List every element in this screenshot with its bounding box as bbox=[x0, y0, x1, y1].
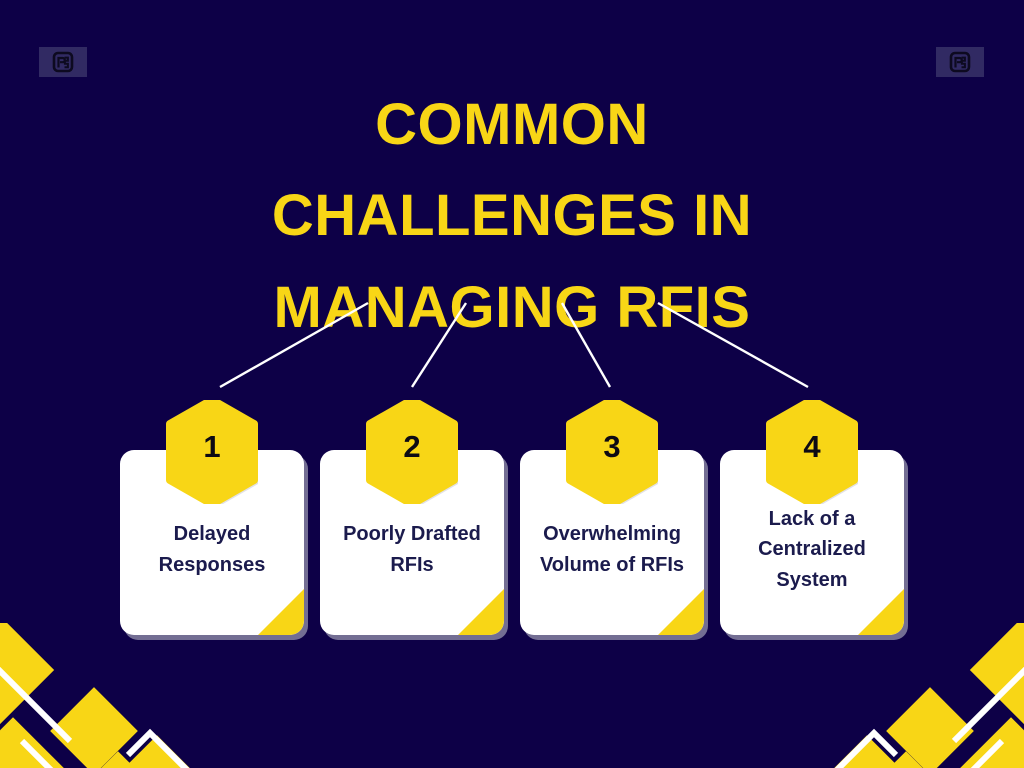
card-number: 4 bbox=[766, 400, 858, 504]
cards-row: Delayed Responses 1 Poorly Drafted RFIs bbox=[0, 400, 1024, 645]
challenge-card[interactable]: Delayed Responses 1 bbox=[120, 400, 304, 645]
page-title: COMMON CHALLENGES IN MANAGING RFIS bbox=[0, 79, 1024, 354]
logo-badge-right bbox=[936, 47, 984, 77]
card-label: Overwhelming Volume of RFIs bbox=[520, 519, 704, 580]
challenge-card[interactable]: Lack of a Centralized System 4 bbox=[720, 400, 904, 645]
card-label: Poorly Drafted RFIs bbox=[320, 519, 504, 580]
card-number: 3 bbox=[566, 400, 658, 504]
card-number-badge: 4 bbox=[766, 400, 858, 504]
challenge-card[interactable]: Poorly Drafted RFIs 2 bbox=[320, 400, 504, 645]
slide-canvas: COMMON CHALLENGES IN MANAGING RFIS Delay… bbox=[0, 0, 1024, 768]
card-number: 1 bbox=[166, 400, 258, 504]
card-corner-accent bbox=[258, 589, 304, 635]
logo-mark-icon bbox=[949, 51, 971, 73]
challenge-card[interactable]: Overwhelming Volume of RFIs 3 bbox=[520, 400, 704, 645]
logo-mark-icon bbox=[52, 51, 74, 73]
card-corner-accent bbox=[458, 589, 504, 635]
title-line-2: CHALLENGES IN bbox=[0, 170, 1024, 262]
card-number: 2 bbox=[366, 400, 458, 504]
title-line-3: MANAGING RFIS bbox=[0, 262, 1024, 354]
card-label: Delayed Responses bbox=[120, 519, 304, 580]
card-number-badge: 1 bbox=[166, 400, 258, 504]
card-number-badge: 3 bbox=[566, 400, 658, 504]
logo-badge-left bbox=[39, 47, 87, 77]
decoration-bottom-left bbox=[0, 623, 215, 768]
card-number-badge: 2 bbox=[366, 400, 458, 504]
decoration-bottom-right bbox=[809, 623, 1024, 768]
card-label: Lack of a Centralized System bbox=[720, 504, 904, 595]
card-corner-accent bbox=[658, 589, 704, 635]
title-line-1: COMMON bbox=[0, 79, 1024, 171]
